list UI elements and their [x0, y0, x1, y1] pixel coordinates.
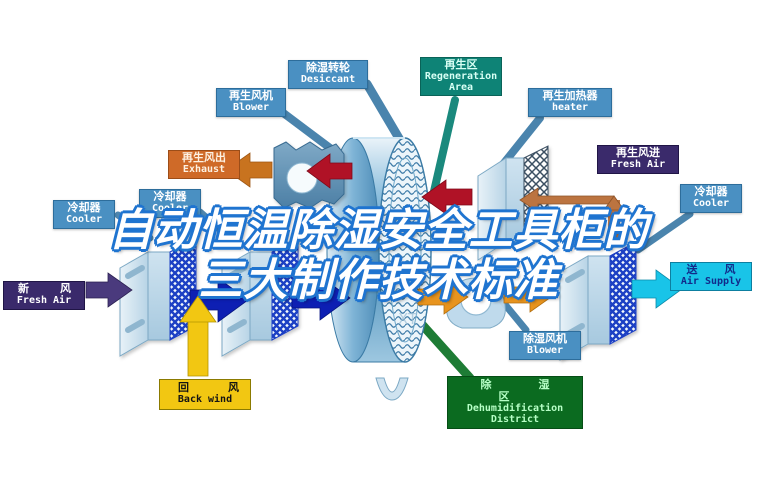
dehumidifier-schematic: XT	[0, 0, 757, 488]
label-cooler-left-2[interactable]: 冷却器 Cooler	[139, 189, 201, 218]
watermark-text: XT	[398, 310, 418, 328]
label-cooler-left-2-en: Cooler	[140, 204, 200, 215]
label-cooler-left-1-en: Cooler	[54, 215, 114, 226]
cooler-coil-1	[120, 238, 196, 356]
label-air-supply-en: Air Supply	[671, 277, 751, 288]
label-regen-heater[interactable]: 再生加热器 heater	[528, 88, 612, 117]
label-back-wind[interactable]: 回 风 Back wind	[159, 379, 251, 410]
label-desiccant-wheel-en: Desiccant	[289, 75, 367, 86]
label-cooler-left-1[interactable]: 冷却器 Cooler	[53, 200, 115, 229]
label-air-supply[interactable]: 送 风 Air Supply	[670, 262, 752, 291]
label-back-wind-en: Back wind	[160, 395, 250, 406]
label-dehum-blower-en: Blower	[510, 346, 580, 357]
label-regen-fresh-air-en: Fresh Air	[598, 160, 678, 171]
label-dehum-district-cn: 除 湿 区	[448, 380, 582, 404]
label-regen-fresh-air[interactable]: 再生风进 Fresh Air	[597, 145, 679, 174]
label-fresh-air[interactable]: 新 风 Fresh Air	[3, 281, 85, 310]
label-regen-heater-en: heater	[529, 103, 611, 114]
label-cooler-right[interactable]: 冷却器 Cooler	[680, 184, 742, 213]
label-exhaust-en: Exhaust	[169, 165, 239, 176]
label-cooler-right-en: Cooler	[681, 199, 741, 210]
label-fresh-air-en: Fresh Air	[4, 296, 84, 307]
label-desiccant-wheel[interactable]: 除湿转轮 Desiccant	[288, 60, 368, 89]
label-dehum-blower[interactable]: 除湿风机 Blower	[509, 331, 581, 360]
regen-fresh-arrow	[520, 188, 614, 212]
label-dehum-district-en: Dehumidification District	[448, 404, 582, 426]
label-regen-blower[interactable]: 再生风机 Blower	[216, 88, 286, 117]
label-regen-area-en: Regeneration Area	[423, 72, 499, 94]
label-regen-blower-en: Blower	[217, 103, 285, 114]
label-dehum-district[interactable]: 除 湿 区 Dehumidification District	[447, 376, 583, 429]
label-exhaust[interactable]: 再生风出 Exhaust	[168, 150, 240, 179]
label-regen-area[interactable]: 再生区 Regeneration Area	[420, 57, 502, 96]
diagram-canvas: XT	[0, 0, 757, 488]
